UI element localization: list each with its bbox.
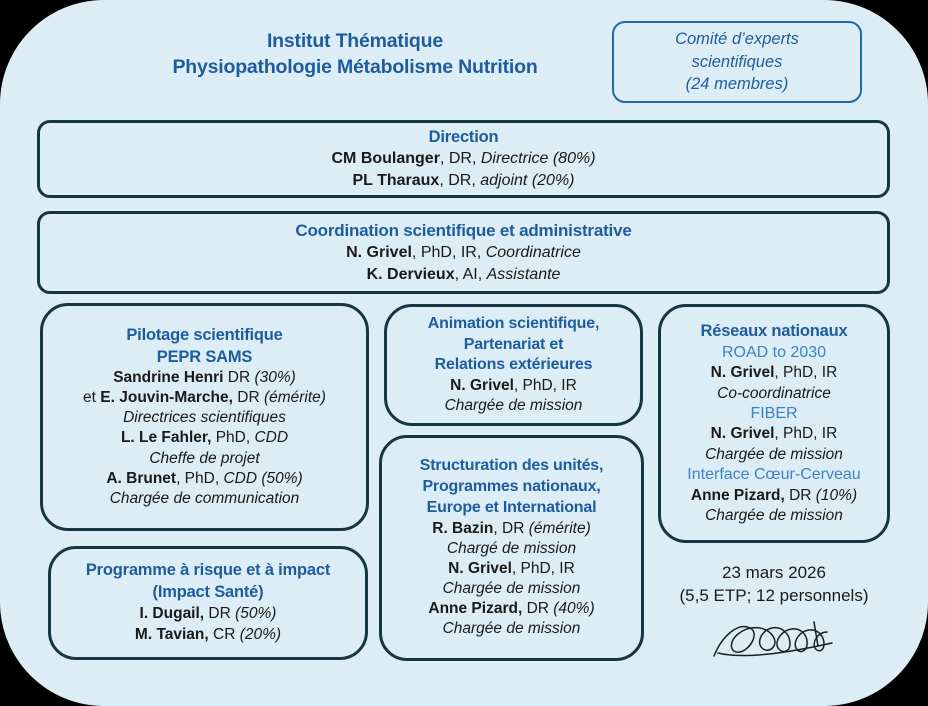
structuration-line-2: Chargé de mission <box>447 539 576 559</box>
direction-box[interactable]: Direction CM Boulanger, DR, Directrice (… <box>37 120 890 198</box>
organization-chart: Institut Thématique Physiopathologie Mét… <box>0 0 928 706</box>
pilotage-line-6: A. Brunet, PhD, CDD (50%) <box>106 469 302 489</box>
structuration-unites-box[interactable]: Structuration des unités, Programmes nat… <box>379 435 644 661</box>
pilotage-line-7: Chargée de communication <box>110 489 300 509</box>
reseaux-nationaux-box[interactable]: Réseaux nationaux ROAD to 2030 N. Grivel… <box>658 304 890 543</box>
direction-person-1: CM Boulanger, DR, Directrice (80%) <box>331 148 595 170</box>
coordination-heading: Coordination scientifique et administrat… <box>295 219 631 242</box>
structuration-line-4: Chargée de mission <box>443 579 581 599</box>
programme-heading-2: (Impact Santé) <box>153 582 264 604</box>
title-line-2: Physiopathologie Métabolisme Nutrition <box>120 54 590 80</box>
committee-line-3: (24 membres) <box>686 73 789 96</box>
structuration-line-3: N. Grivel, PhD, IR <box>448 559 575 579</box>
pilotage-heading-2: PEPR SAMS <box>157 347 252 368</box>
reseaux-heading: Réseaux nationaux <box>701 321 848 342</box>
structuration-line-1: R. Bazin, DR (émérite) <box>432 519 590 539</box>
structuration-heading-3: Europe et International <box>427 498 597 519</box>
fiber-line-2: Chargée de mission <box>705 445 843 465</box>
footer-staffing: (5,5 ETP; 12 personnels) <box>658 585 890 608</box>
pilotage-line-3: Directrices scientifiques <box>123 408 286 428</box>
structuration-line-5: Anne Pizard, DR (40%) <box>428 599 594 619</box>
structuration-heading-1: Structuration des unités, <box>420 456 603 477</box>
road-line-1: N. Grivel, PhD, IR <box>711 363 838 383</box>
direction-person-2: PL Tharaux, DR, adjoint (20%) <box>352 170 574 192</box>
fiber-line-1: N. Grivel, PhD, IR <box>711 424 838 444</box>
network-name-interface: Interface Cœur-Cerveau <box>687 465 860 486</box>
network-name-fiber: FIBER <box>750 404 797 425</box>
programme-heading-1: Programme à risque et à impact <box>86 560 330 582</box>
footer-note: 23 mars 2026 (5,5 ETP; 12 personnels) <box>658 562 890 608</box>
interface-line-1: Anne Pizard, DR (10%) <box>691 486 857 506</box>
animation-scientifique-box[interactable]: Animation scientifique, Partenariat et R… <box>384 304 643 426</box>
pilotage-line-1: Sandrine Henri DR (30%) <box>113 368 296 388</box>
programme-line-2: M. Tavian, CR (20%) <box>135 625 281 646</box>
programme-line-1: I. Dugail, DR (50%) <box>140 604 277 625</box>
interface-line-2: Chargée de mission <box>705 506 843 526</box>
footer-date: 23 mars 2026 <box>658 562 890 585</box>
coordination-person-1: N. Grivel, PhD, IR, Coordinatrice <box>346 242 581 264</box>
road-line-2: Co-coordinatrice <box>717 384 831 404</box>
programme-risque-impact-box[interactable]: Programme à risque et à impact (Impact S… <box>48 546 368 660</box>
page-title: Institut Thématique Physiopathologie Mét… <box>120 28 590 81</box>
committee-line-2: scientifiques <box>692 51 783 74</box>
direction-heading: Direction <box>429 126 499 149</box>
coordination-box[interactable]: Coordination scientifique et administrat… <box>37 211 890 294</box>
pilotage-heading-1: Pilotage scientifique <box>126 325 282 346</box>
coordination-person-2: K. Dervieux, AI, Assistante <box>367 264 561 286</box>
animation-heading-3: Relations extérieures <box>435 355 593 375</box>
animation-line-2: Chargée de mission <box>445 396 583 416</box>
network-name-road: ROAD to 2030 <box>722 343 826 364</box>
pilotage-line-2: et E. Jouvin-Marche, DR (émérite) <box>83 388 326 408</box>
animation-heading-1: Animation scientifique, <box>428 314 599 334</box>
structuration-heading-2: Programmes nationaux, <box>422 477 600 498</box>
pilotage-line-4: L. Le Fahler, PhD, CDD <box>121 428 288 448</box>
pilotage-scientifique-box[interactable]: Pilotage scientifique PEPR SAMS Sandrine… <box>40 303 369 531</box>
structuration-line-6: Chargée de mission <box>443 619 581 639</box>
animation-heading-2: Partenariat et <box>464 335 563 355</box>
title-line-1: Institut Thématique <box>120 28 590 54</box>
committee-line-1: Comité d’experts <box>675 28 799 51</box>
animation-line-1: N. Grivel, PhD, IR <box>450 376 577 396</box>
signature-image <box>708 606 848 668</box>
pilotage-line-5: Cheffe de projet <box>149 449 259 469</box>
expert-committee-box[interactable]: Comité d’experts scientifiques (24 membr… <box>612 21 862 103</box>
